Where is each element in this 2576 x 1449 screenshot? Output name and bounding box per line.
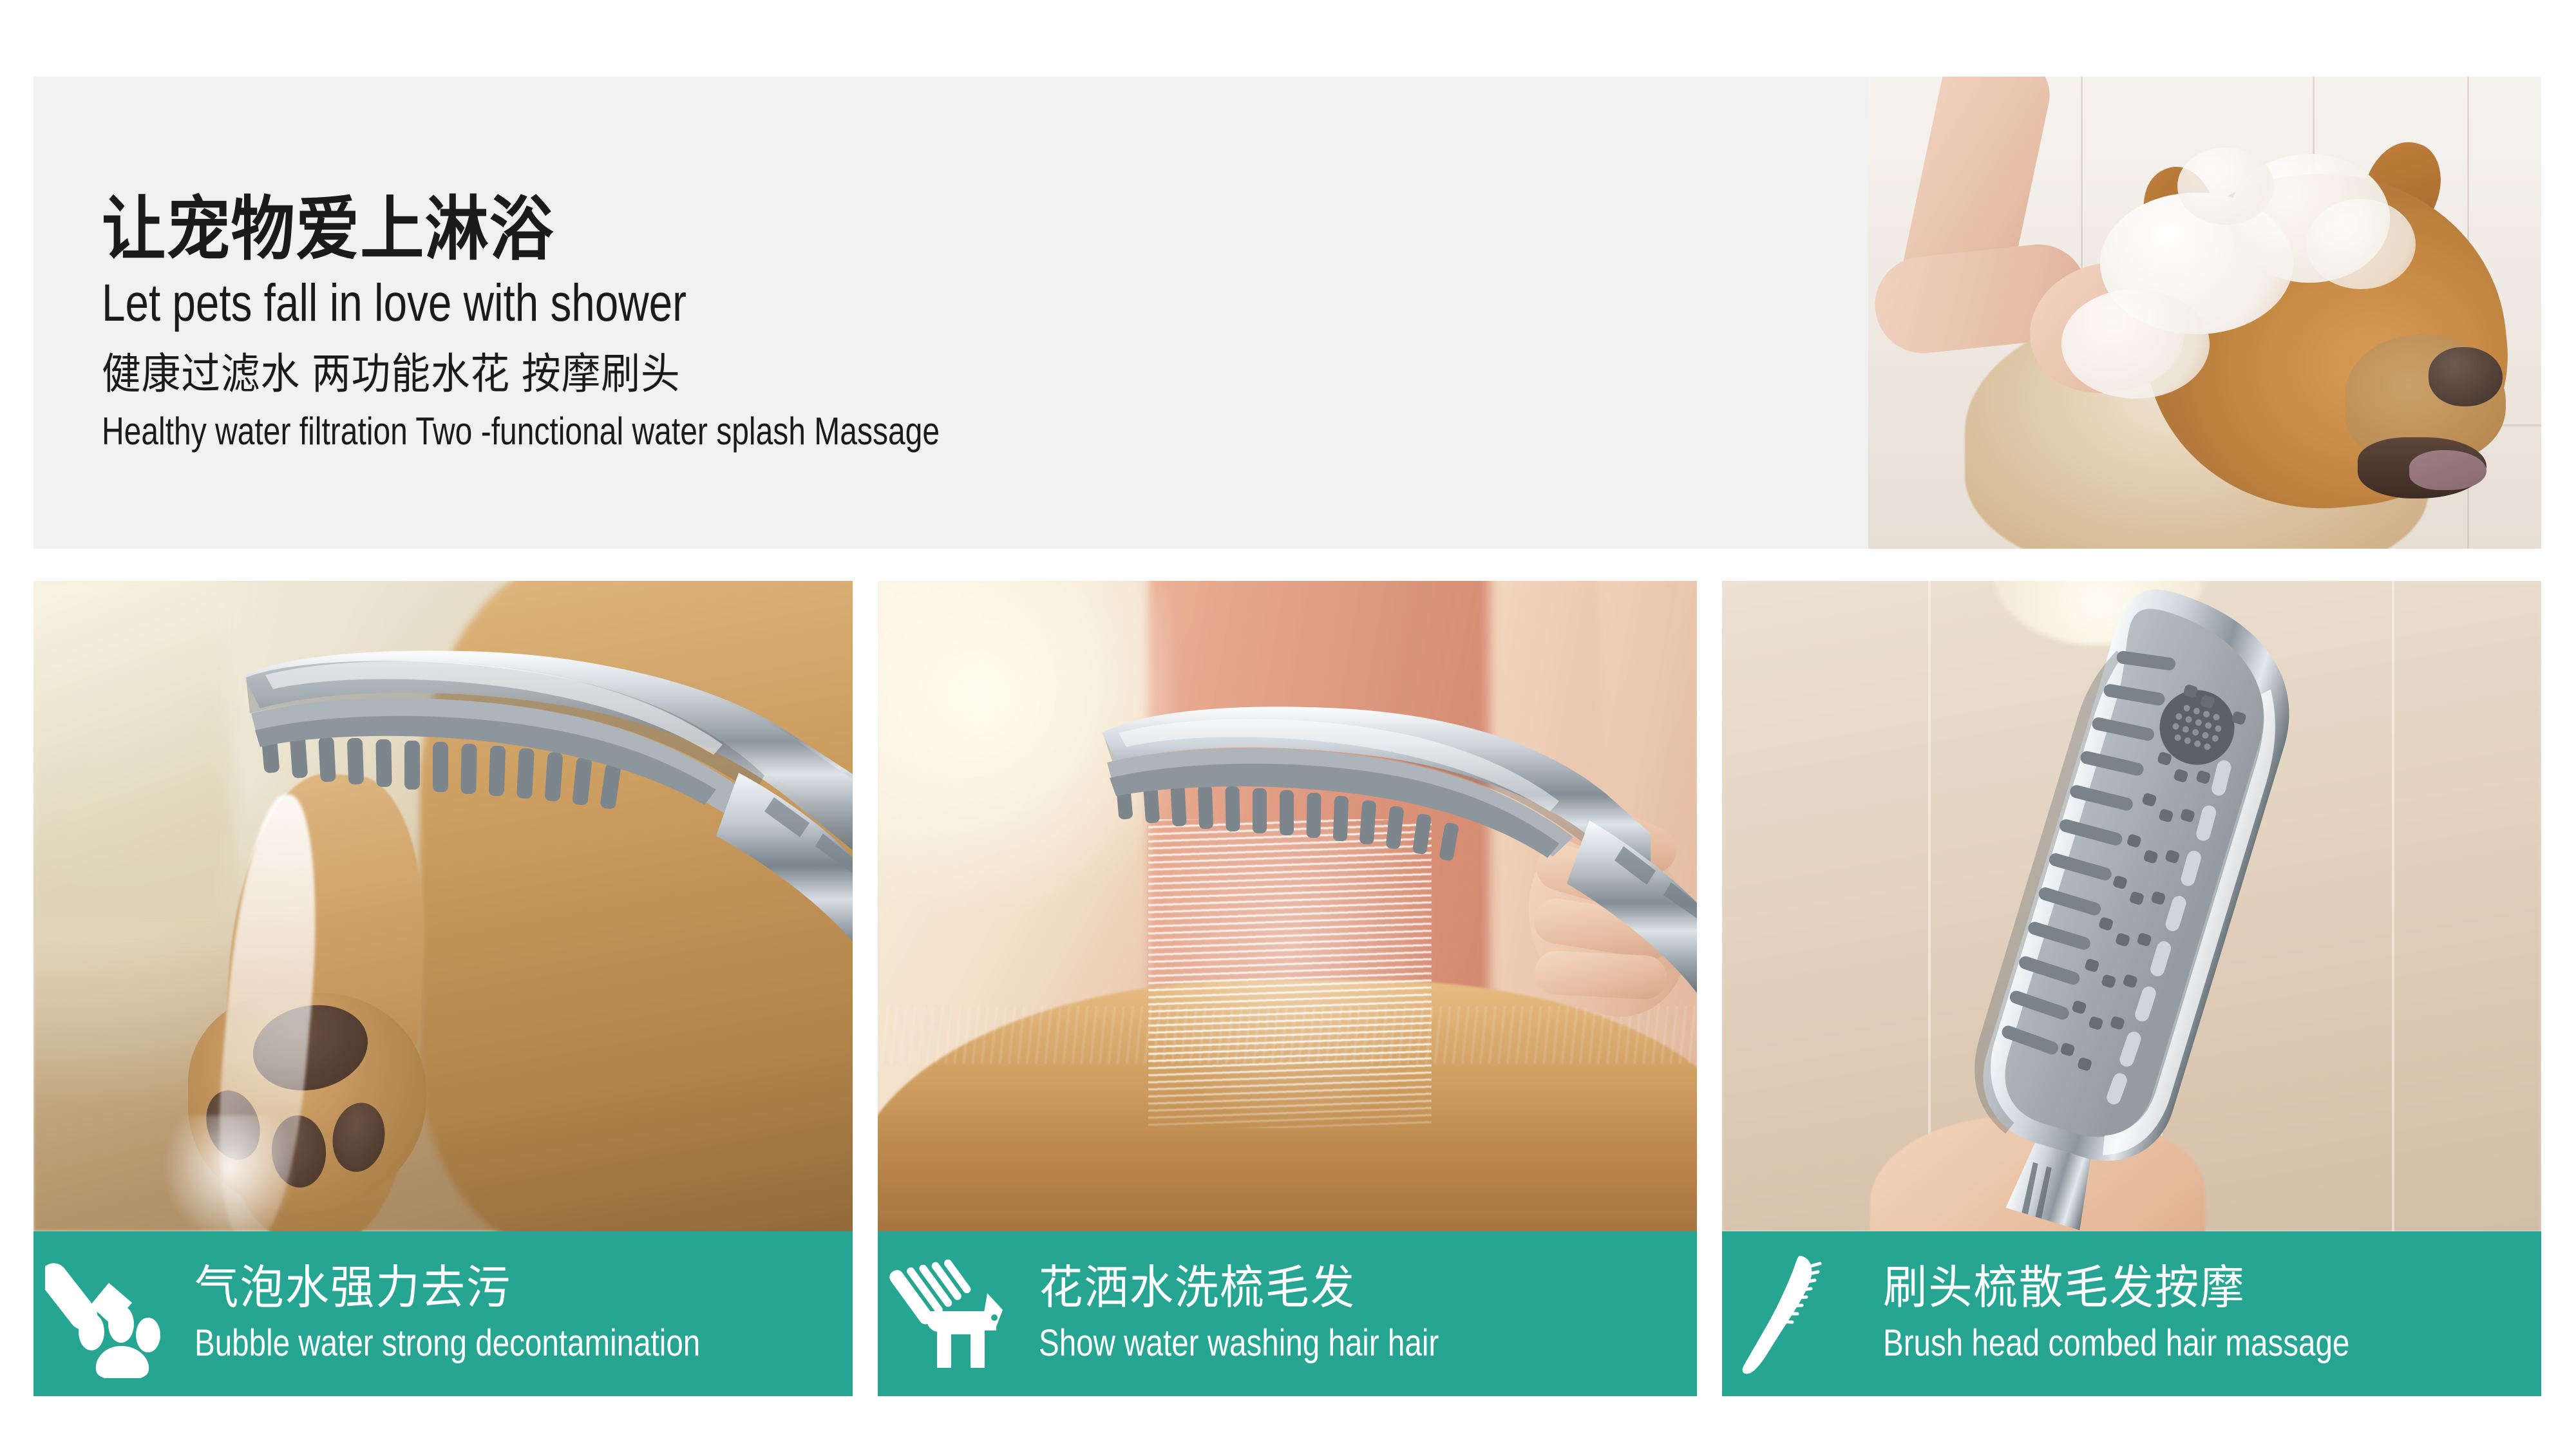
page-subtitle-cn: 健康过滤水 两功能水花 按摩刷头 [102,346,1287,401]
photo3-brush-head-product [1722,581,2541,1231]
dog-shower-spray-icon [878,1249,1039,1378]
caption-cn-3: 刷头梳散毛发按摩 [1883,1262,2496,1314]
caption-cn-2: 花洒水洗梳毛发 [1039,1262,1652,1314]
showerhead-paw-icon [33,1249,194,1378]
hero-soap-foam [2306,199,2416,289]
feature-caption-text-2: 花洒水洗梳毛发 Show water washing hair hair [1039,1262,1697,1366]
photo1-shower-head-product [33,581,853,1231]
feature-panel-2: 花洒水洗梳毛发 Show water washing hair hair [878,581,1697,1396]
feature-photo-1 [33,581,853,1231]
brush-comb-icon [1722,1249,1883,1378]
feature-caption-3: 刷头梳散毛发按摩 Brush head combed hair massage [1722,1231,2541,1396]
hero-soap-foam [2177,147,2274,225]
caption-en-2: Show water washing hair hair [1039,1321,1568,1366]
page-title-en: Let pets fall in love with shower [102,272,1132,335]
caption-en-1: Bubble water strong decontamination [194,1321,724,1366]
caption-cn-1: 气泡水强力去污 [194,1262,808,1314]
feature-panel-1: 气泡水强力去污 Bubble water strong decontaminat… [33,581,853,1396]
caption-en-3: Brush head combed hair massage [1883,1321,2412,1366]
hero-dog-nose [2429,347,2503,406]
feature-panel-3: 刷头梳散毛发按摩 Brush head combed hair massage [1722,581,2541,1396]
header-text-block: 让宠物爱上淋浴 Let pets fall in love with showe… [102,193,1390,455]
feature-photo-3 [1722,581,2541,1231]
feature-caption-text-1: 气泡水强力去污 Bubble water strong decontaminat… [194,1262,853,1366]
hero-soap-foam [2061,289,2210,399]
feature-caption-2: 花洒水洗梳毛发 Show water washing hair hair [878,1231,1697,1396]
page-title-cn: 让宠物爱上淋浴 [102,193,1287,266]
page-subtitle-en: Healthy water filtration Two -functional… [102,408,1132,455]
feature-caption-1: 气泡水强力去污 Bubble water strong decontaminat… [33,1231,853,1396]
product-banner: 让宠物爱上淋浴 Let pets fall in love with showe… [0,0,2576,1449]
feature-photo-2 [878,581,1697,1231]
feature-panel-row: 气泡水强力去污 Bubble water strong decontaminat… [33,581,2541,1396]
header-panel: 让宠物爱上淋浴 Let pets fall in love with showe… [33,77,2541,549]
photo2-shower-head-product [878,581,1697,1231]
hero-photo-dog-shampoo [1868,77,2541,549]
hero-dog-tongue [2409,450,2486,490]
feature-caption-text-3: 刷头梳散毛发按摩 Brush head combed hair massage [1883,1262,2541,1366]
